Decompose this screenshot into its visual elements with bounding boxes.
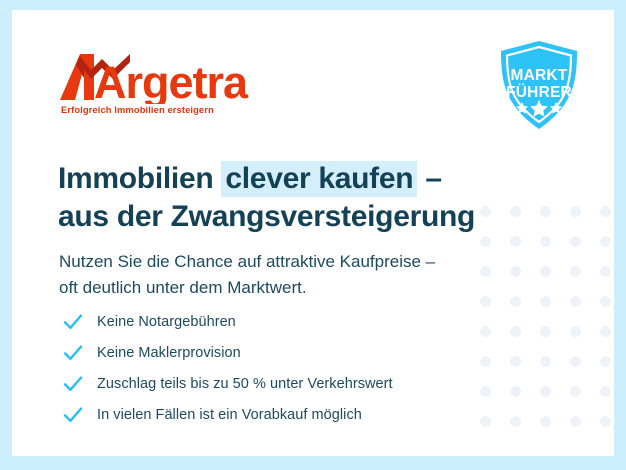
benefit-label: Keine Maklerprovision bbox=[97, 345, 241, 361]
subheading-line1: Nutzen Sie die Chance auf attraktive Kau… bbox=[59, 249, 529, 275]
badge-line1: MARKT bbox=[511, 67, 568, 84]
market-leader-badge: MARKT FÜHRER bbox=[498, 40, 580, 132]
logo-tagline: Erfolgreich Immobilien ersteigern bbox=[61, 104, 214, 115]
headline-line1-post: – bbox=[417, 162, 441, 195]
grid-dot bbox=[480, 236, 491, 247]
grid-dot bbox=[480, 416, 491, 427]
promo-banner: Argetra Erfolgreich Immobilien ersteiger… bbox=[0, 0, 626, 470]
grid-dot bbox=[480, 356, 491, 367]
badge-line2: FÜHRER bbox=[506, 84, 572, 101]
grid-dot bbox=[570, 266, 581, 277]
grid-dot bbox=[510, 386, 521, 397]
grid-dot bbox=[510, 326, 521, 337]
grid-dot bbox=[510, 416, 521, 427]
argetra-logo-mark: Argetra bbox=[58, 48, 258, 104]
grid-dot bbox=[600, 296, 611, 307]
grid-dot bbox=[570, 356, 581, 367]
benefit-item: Keine Notargebühren bbox=[62, 306, 393, 337]
benefit-label: Keine Notargebühren bbox=[97, 314, 236, 330]
grid-dot bbox=[480, 386, 491, 397]
grid-dot bbox=[540, 296, 551, 307]
argetra-logo[interactable]: Argetra Erfolgreich Immobilien ersteiger… bbox=[58, 48, 258, 120]
grid-dot bbox=[600, 326, 611, 337]
benefit-item: In vielen Fällen ist ein Vorabkauf mögli… bbox=[62, 399, 393, 430]
check-icon bbox=[62, 342, 84, 364]
benefit-list: Keine NotargebührenKeine Maklerprovision… bbox=[62, 306, 393, 430]
grid-dot bbox=[600, 416, 611, 427]
page-title: Immobilien clever kaufen – aus der Zwang… bbox=[58, 160, 528, 236]
headline-line1-pre: Immobilien bbox=[58, 162, 221, 195]
grid-dot bbox=[540, 266, 551, 277]
benefit-label: In vielen Fällen ist ein Vorabkauf mögli… bbox=[97, 407, 362, 423]
grid-dot bbox=[570, 206, 581, 217]
banner-canvas: Argetra Erfolgreich Immobilien ersteiger… bbox=[12, 10, 614, 456]
svg-text:Argetra: Argetra bbox=[94, 57, 249, 104]
grid-dot bbox=[510, 356, 521, 367]
grid-dot bbox=[570, 236, 581, 247]
headline-highlight: clever kaufen bbox=[221, 161, 417, 197]
grid-dot bbox=[600, 266, 611, 277]
check-icon bbox=[62, 311, 84, 333]
grid-dot bbox=[570, 296, 581, 307]
grid-dot bbox=[600, 236, 611, 247]
benefit-item: Keine Maklerprovision bbox=[62, 337, 393, 368]
grid-dot bbox=[540, 326, 551, 337]
grid-dot bbox=[540, 386, 551, 397]
grid-dot bbox=[540, 236, 551, 247]
subheading: Nutzen Sie die Chance auf attraktive Kau… bbox=[59, 249, 529, 302]
grid-dot bbox=[510, 236, 521, 247]
grid-dot bbox=[570, 326, 581, 337]
subheading-line2: oft deutlich unter dem Marktwert. bbox=[59, 275, 529, 301]
grid-dot bbox=[600, 356, 611, 367]
check-icon bbox=[62, 373, 84, 395]
grid-dot bbox=[540, 206, 551, 217]
benefit-item: Zuschlag teils bis zu 50 % unter Verkehr… bbox=[62, 368, 393, 399]
grid-dot bbox=[540, 356, 551, 367]
grid-dot bbox=[570, 416, 581, 427]
grid-dot bbox=[540, 416, 551, 427]
grid-dot bbox=[480, 326, 491, 337]
grid-dot bbox=[600, 206, 611, 217]
check-icon bbox=[62, 404, 84, 426]
headline-line2: aus der Zwangsversteigerung bbox=[58, 198, 528, 236]
benefit-label: Zuschlag teils bis zu 50 % unter Verkehr… bbox=[97, 376, 393, 392]
grid-dot bbox=[570, 386, 581, 397]
grid-dot bbox=[600, 386, 611, 397]
